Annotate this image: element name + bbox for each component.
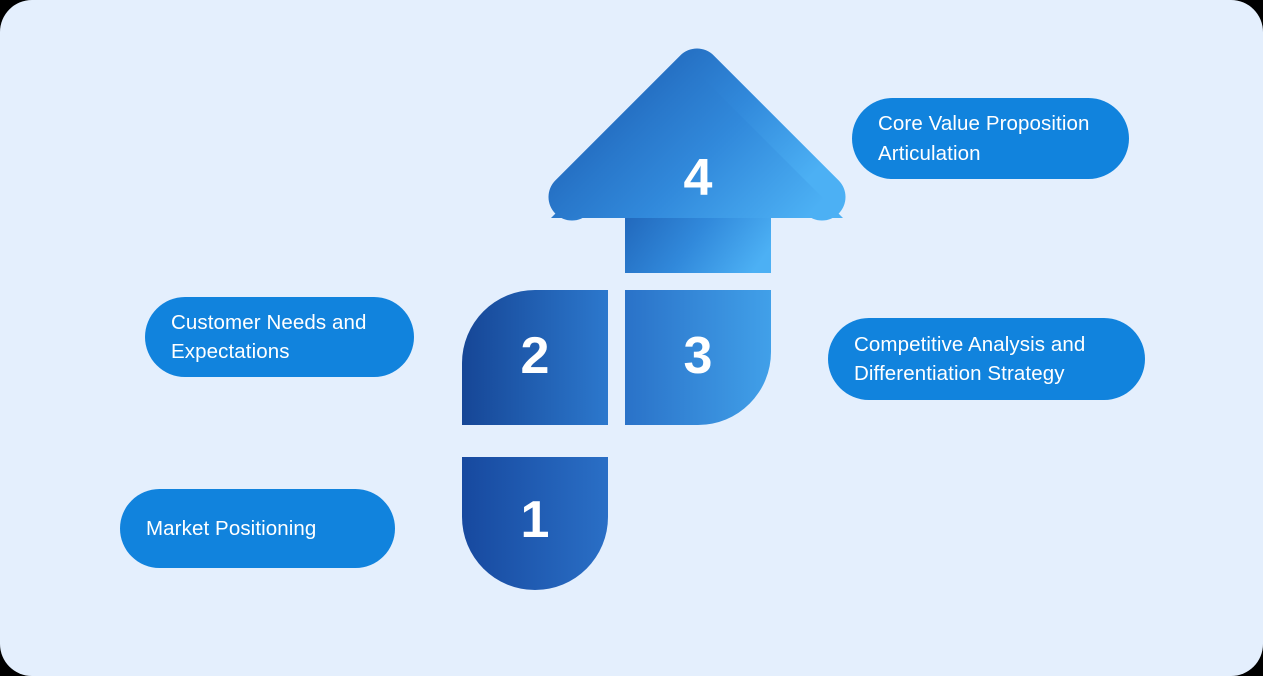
label-pill-text: Competitive Analysis and Differentiation… bbox=[854, 330, 1085, 388]
label-pill-core-value-proposition-articulation[interactable]: Core Value Proposition Articulation bbox=[852, 98, 1129, 179]
step-2-block-shape[interactable] bbox=[462, 290, 608, 425]
label-pill-competitive-analysis-and-differentiation-strategy[interactable]: Competitive Analysis and Differentiation… bbox=[828, 318, 1145, 400]
diagram-canvas: 1 2 3 4 Core Value Proposition Articulat… bbox=[0, 0, 1263, 676]
step-1-block-shape[interactable] bbox=[462, 457, 608, 590]
label-pill-text: Customer Needs and Expectations bbox=[171, 308, 367, 366]
label-pill-text: Core Value Proposition Articulation bbox=[878, 109, 1090, 167]
label-pill-customer-needs-and-expectations[interactable]: Customer Needs and Expectations bbox=[145, 297, 414, 377]
label-pill-market-positioning[interactable]: Market Positioning bbox=[120, 489, 395, 568]
step-3-block-shape[interactable] bbox=[625, 290, 771, 425]
step-4-arrow-shape[interactable] bbox=[551, 72, 843, 273]
label-pill-text: Market Positioning bbox=[146, 514, 316, 543]
